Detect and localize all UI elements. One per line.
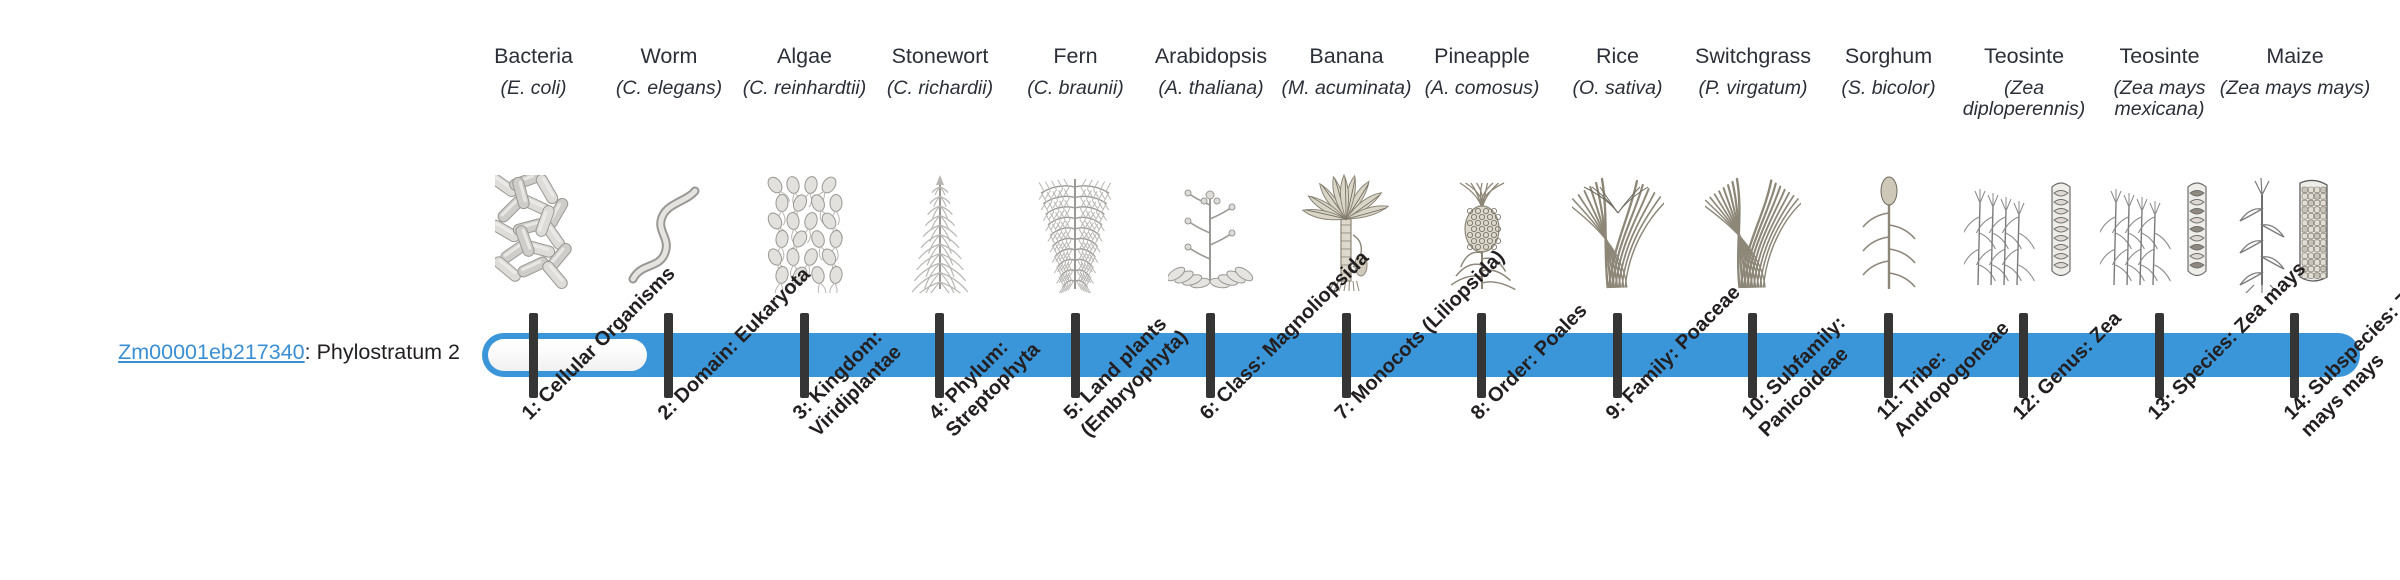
species-scientific-name: (C. richardii): [865, 78, 1016, 99]
species-scientific-name: (P. virgatum): [1678, 78, 1829, 99]
phylostratum-tick: [2290, 313, 2299, 398]
species-column: Bacteria(E. coli): [466, 0, 601, 300]
species-scientific-name: (Zea mays mexicana): [2084, 78, 2235, 121]
phylostratum-value-text: Phylostratum 2: [317, 340, 460, 364]
species-common-name: Arabidopsis: [1138, 44, 1285, 69]
species-common-name: Teosinte: [2086, 44, 2233, 69]
species-scientific-name: (Zea mays mays): [2220, 78, 2371, 99]
species-common-name: Algae: [731, 44, 878, 69]
phylostratum-figure: Zm00001eb217340: Phylostratum 2 Bacteria…: [0, 0, 2400, 580]
phylostratum-tick: [2155, 313, 2164, 398]
species-columns: Bacteria(E. coli): [466, 0, 2356, 580]
gene-phylostratum-label: Zm00001eb217340: Phylostratum 2: [40, 341, 460, 365]
phylostratum-tick: [800, 313, 809, 398]
species-common-name: Switchgrass: [1680, 44, 1827, 69]
species-scientific-name: (C. elegans): [594, 78, 745, 99]
species-common-name: Worm: [596, 44, 743, 69]
species-scientific-name: (O. sativa): [1542, 78, 1693, 99]
species-scientific-name: (M. acuminata): [1271, 78, 1422, 99]
species-common-name: Sorghum: [1815, 44, 1962, 69]
species-scientific-name: (A. thaliana): [1136, 78, 1287, 99]
gene-id-link[interactable]: Zm00001eb217340: [118, 340, 305, 364]
species-scientific-name: (A. comosus): [1407, 78, 1558, 99]
phylostratum-tick: [1477, 313, 1486, 398]
species-common-name: Teosinte: [1951, 44, 2098, 69]
species-common-name: Stonewort: [867, 44, 1014, 69]
phylostratum-tick: [664, 313, 673, 398]
species-common-name: Fern: [1002, 44, 1149, 69]
species-common-name: Banana: [1273, 44, 1420, 69]
species-common-name: Bacteria: [460, 44, 607, 69]
gene-label-separator: :: [305, 340, 317, 364]
species-common-name: Maize: [2222, 44, 2369, 69]
species-common-name: Rice: [1544, 44, 1691, 69]
species-common-name: Pineapple: [1409, 44, 1556, 69]
species-scientific-name: (E. coli): [458, 78, 609, 99]
phylostratum-tick: [1748, 313, 1757, 398]
phylostratum-tick: [1613, 313, 1622, 398]
species-scientific-name: (S. bicolor): [1813, 78, 1964, 99]
species-scientific-name: (C. reinhardtii): [729, 78, 880, 99]
species-scientific-name: (C. braunii): [1000, 78, 1151, 99]
phylostratum-tick: [529, 313, 538, 398]
bacteria-rods-icon: [466, 168, 601, 293]
species-scientific-name: (Zea diploperennis): [1949, 78, 2100, 121]
phylostratum-tick: [1342, 313, 1351, 398]
